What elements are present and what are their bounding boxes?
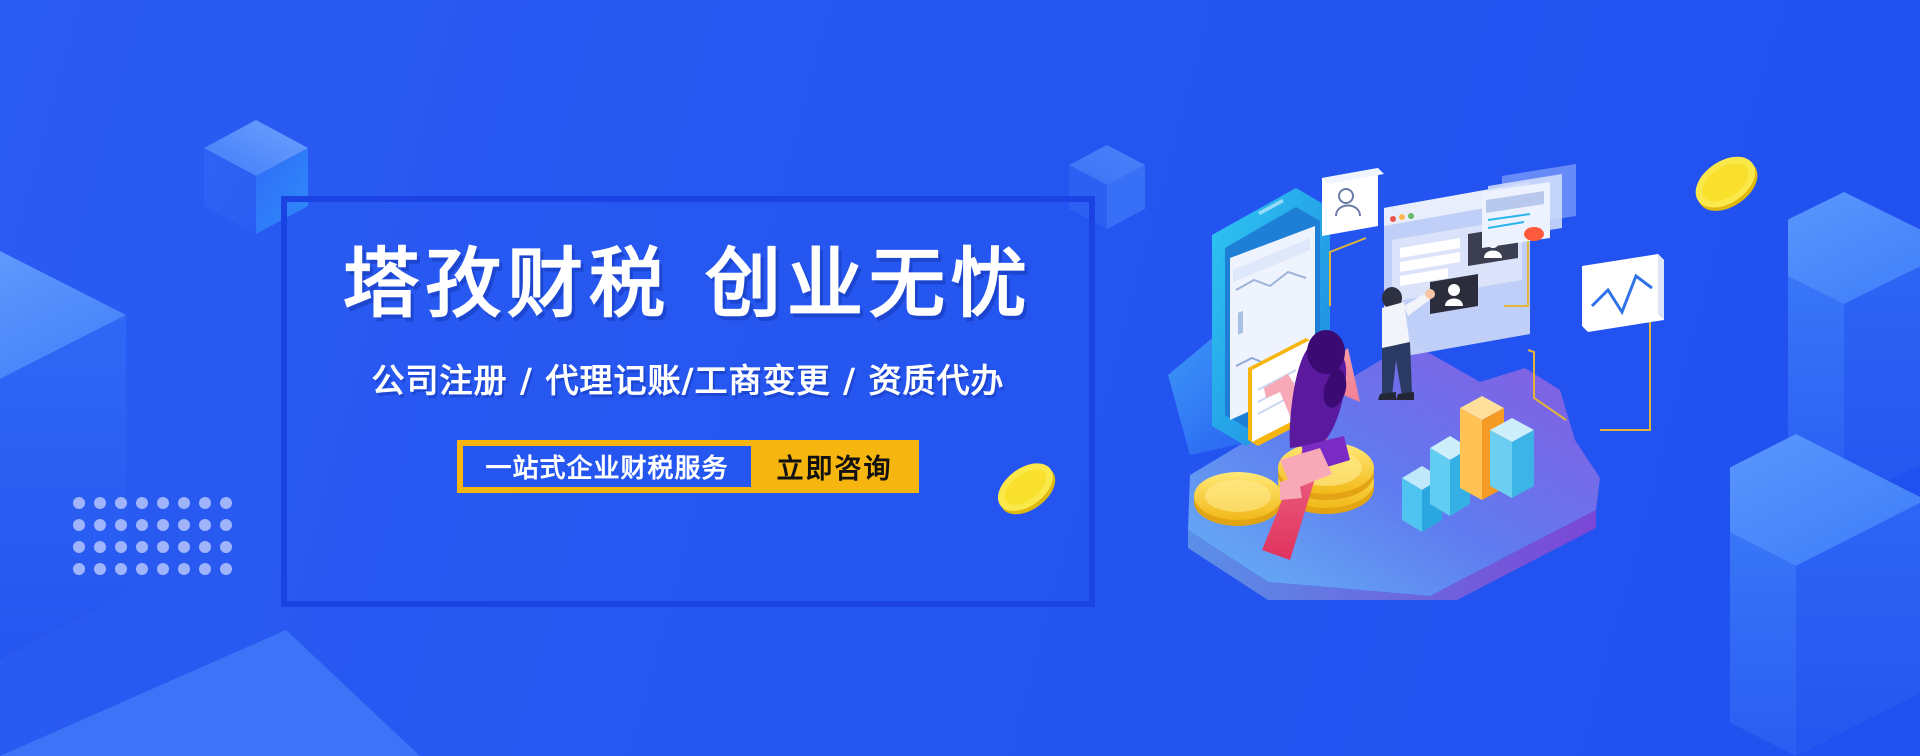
banner-subline: 公司注册 / 代理记账/工商变更 / 资质代办	[371, 354, 1004, 402]
dot-grid-pattern	[73, 497, 241, 585]
isometric-block-right-lower	[1730, 430, 1920, 756]
isometric-fintech-illustration	[1130, 130, 1690, 600]
consult-now-button[interactable]: 立即咨询	[751, 440, 919, 493]
triangle-accent-shape	[0, 630, 420, 756]
banner-headline: 塔孜财税创业无忧	[343, 244, 1033, 324]
isometric-block-left	[0, 245, 148, 665]
headline-part-left: 塔孜财税	[343, 239, 671, 328]
gold-coin-top-right-icon	[1688, 148, 1764, 218]
isometric-block-right-upper	[1788, 186, 1920, 506]
cta-row: 一站式企业财税服务 立即咨询	[457, 440, 918, 493]
banner-text-block: 塔孜财税创业无忧 公司注册 / 代理记账/工商变更 / 资质代办 一站式企业财税…	[281, 196, 1095, 607]
service-tag-label: 一站式企业财税服务	[463, 446, 750, 487]
promo-banner: 塔孜财税创业无忧 公司注册 / 代理记账/工商变更 / 资质代办 一站式企业财税…	[0, 0, 1920, 756]
headline-part-right: 创业无忧	[705, 239, 1033, 328]
